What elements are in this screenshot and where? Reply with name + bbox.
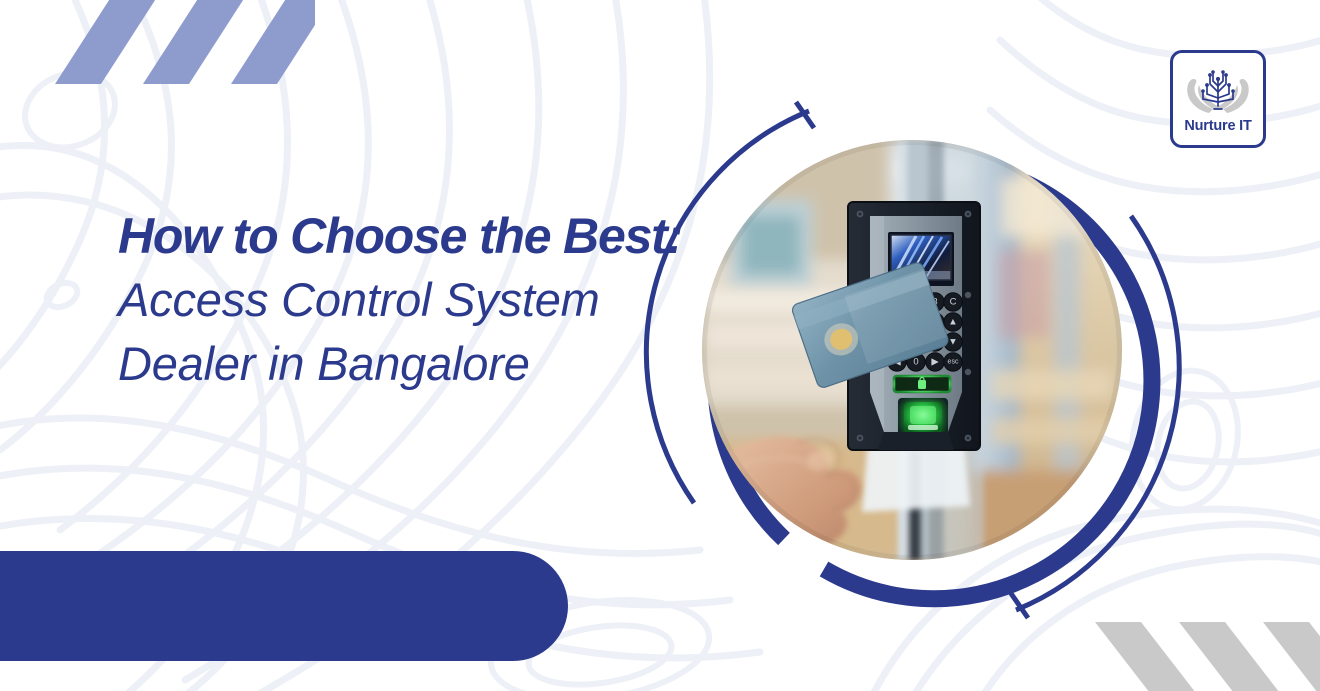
svg-text:▼: ▼ [948, 337, 957, 348]
bottom-accent-bar [0, 551, 568, 661]
headline-line-3: Dealer in Bangalore [118, 332, 708, 396]
logo-text: Nurture IT [1184, 119, 1251, 134]
headline-line-2: Access Control System [118, 268, 708, 332]
svg-text:0: 0 [913, 357, 918, 368]
banner-root: How to Choose the Best: Access Control S… [0, 0, 1320, 691]
logo[interactable]: Nurture IT [1170, 50, 1266, 148]
access-control-photo: 12 3C 45 6▲ 78 9▼ ◀0 ▶esc [702, 140, 1122, 560]
hands-cradling-circuit-tree-icon [1183, 64, 1253, 116]
decorative-stripes-top-left [55, 0, 315, 84]
svg-text:esc: esc [948, 359, 959, 366]
svg-text:▶: ▶ [931, 357, 939, 368]
svg-text:C: C [950, 297, 957, 308]
hero-image-composition: 12 3C 45 6▲ 78 9▼ ◀0 ▶esc [636, 84, 1188, 636]
svg-text:▲: ▲ [948, 317, 957, 328]
headline-line-1: How to Choose the Best: [118, 204, 708, 268]
page-title: How to Choose the Best: Access Control S… [118, 204, 708, 396]
